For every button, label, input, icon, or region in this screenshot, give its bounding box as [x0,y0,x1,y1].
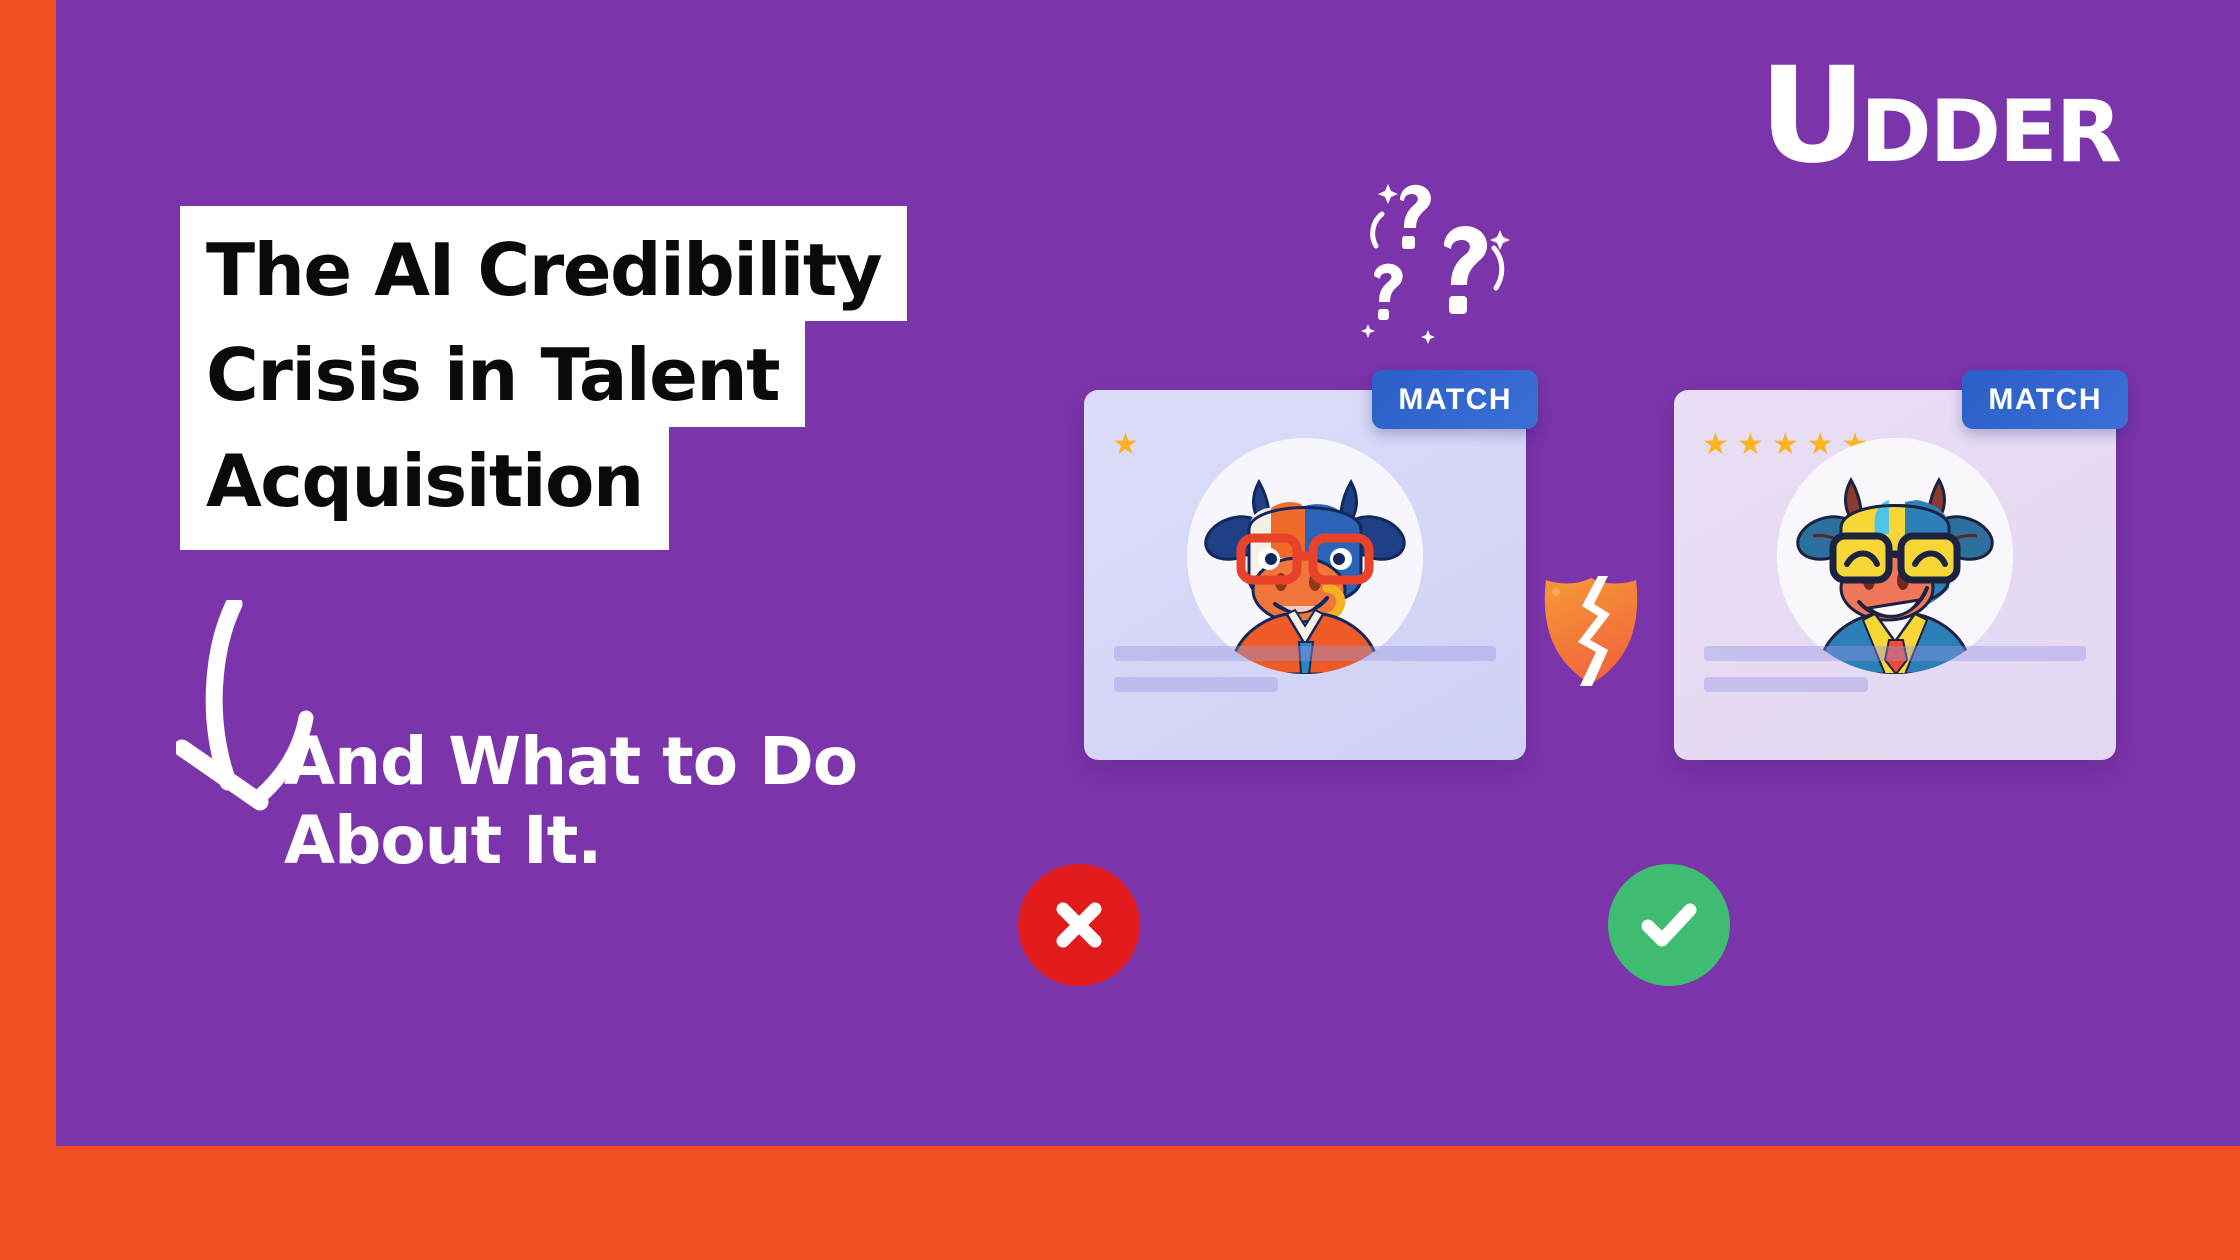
avatar [1777,438,2013,674]
skeleton-text-lines [1704,646,2086,708]
skeleton-line [1704,677,1868,692]
question-marks-icon [1354,178,1524,378]
rating-stars-low: ★ [1112,430,1139,460]
purple-stage: U DDER The AI Credibility Crisis in Tale… [56,0,2240,1146]
match-badge[interactable]: MATCH [1372,370,1538,429]
udder-logo: U DDER [1759,62,2120,170]
candidate-card-unverified[interactable]: MATCH ★ [1084,390,1526,760]
star-icon: ★ [1772,430,1799,460]
star-icon: ★ [1702,430,1729,460]
match-badge-label: MATCH [1398,383,1512,416]
status-badge-rejected [1018,864,1140,986]
check-icon [1634,890,1704,960]
cross-icon [1047,893,1111,957]
skeleton-text-lines [1114,646,1496,708]
match-badge-label: MATCH [1988,383,2102,416]
broken-shield-icon [1536,572,1646,690]
headline-line-3: Acquisition [180,427,669,550]
page-subtitle: And What to Do About It. [284,722,984,880]
star-icon: ★ [1112,430,1139,460]
headline-line-1: The AI Credibility [180,206,907,321]
subtitle-line-2: About It. [284,801,984,880]
candidate-cards-group: MATCH ★ [1036,250,2166,930]
star-icon: ★ [1737,430,1764,460]
logo-lead-letter: U [1759,62,1864,170]
cow-avatar-yellow-glasses [1777,438,2013,674]
skeleton-line [1114,677,1278,692]
match-badge[interactable]: MATCH [1962,370,2128,429]
skeleton-line [1114,646,1496,661]
status-badge-verified [1608,864,1730,986]
candidate-card-verified[interactable]: MATCH ★ ★ ★ ★ ★ [1674,390,2116,760]
avatar [1187,438,1423,674]
logo-remaining-letters: DDER [1860,97,2120,168]
subtitle-line-1: And What to Do [284,722,984,801]
star-icon: ★ [1807,430,1834,460]
headline-line-2: Crisis in Talent [180,321,805,426]
page-title: The AI Credibility Crisis in Talent Acqu… [180,206,900,550]
skeleton-line [1704,646,2086,661]
cow-avatar-red-glasses [1187,438,1423,674]
